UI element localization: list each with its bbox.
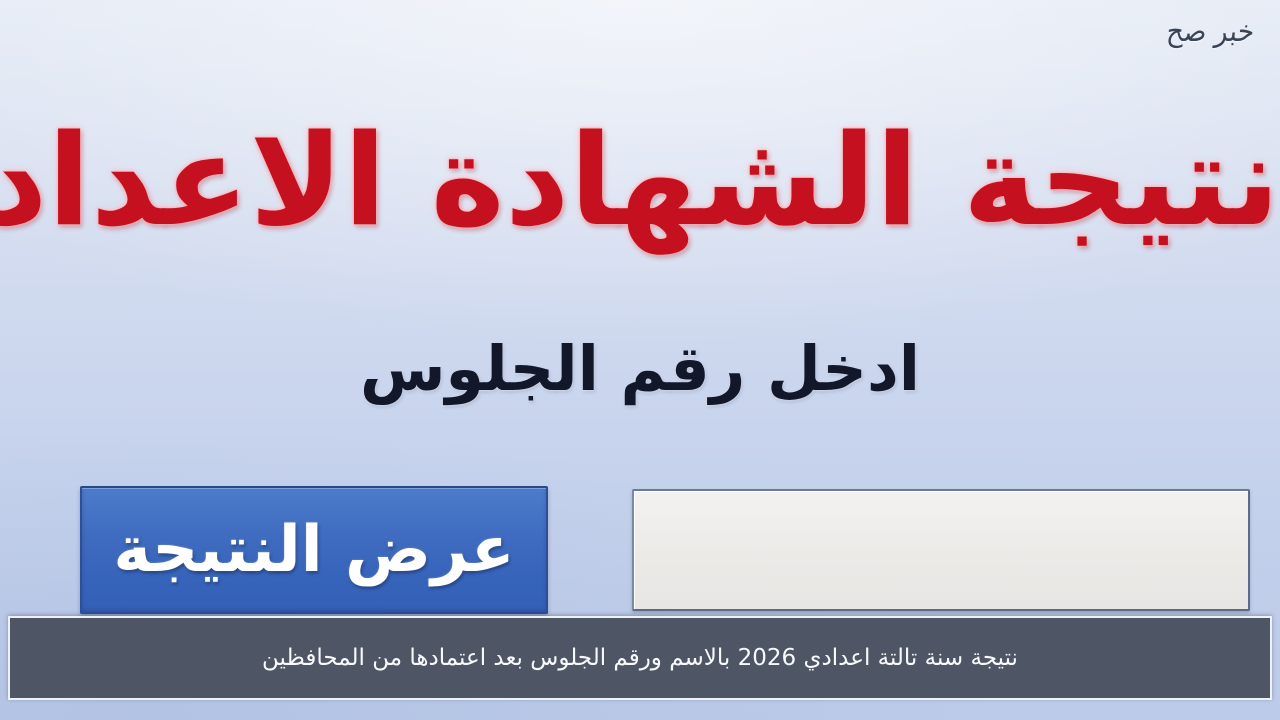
lookup-form: عرض النتيجة: [0, 486, 1280, 626]
seat-number-input[interactable]: [632, 489, 1250, 611]
caption-bar: نتيجة سنة تالتة اعدادي 2026 بالاسم ورقم …: [8, 616, 1272, 700]
page-title: نتيجة الشهادة الاعدادية: [0, 102, 1280, 260]
site-watermark: خبر صح: [1165, 14, 1256, 48]
show-result-button[interactable]: عرض النتيجة: [80, 486, 548, 614]
caption-text: نتيجة سنة تالتة اعدادي 2026 بالاسم ورقم …: [262, 645, 1018, 671]
result-lookup-page: خبر صح نتيجة الشهادة الاعدادية ادخل رقم …: [0, 0, 1280, 720]
seat-number-label: ادخل رقم الجلوس: [0, 332, 1280, 405]
